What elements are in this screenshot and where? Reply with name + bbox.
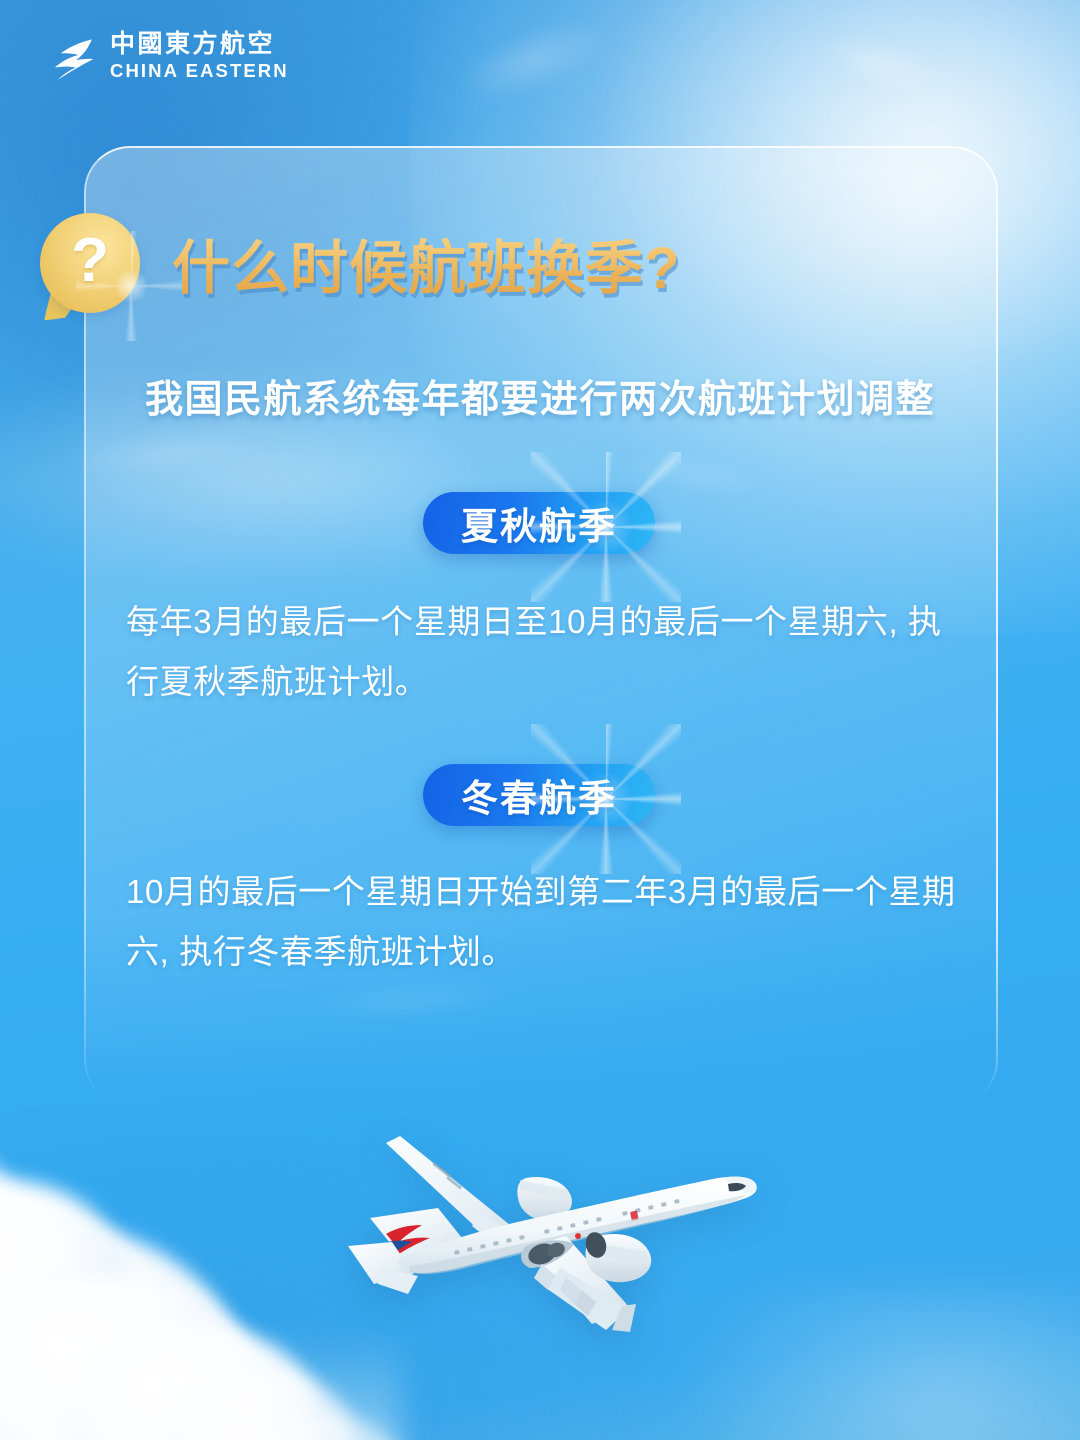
brand-logo: 中國東方航空 CHINA EASTERN (44, 30, 289, 82)
bubble-question-mark: ? (40, 213, 140, 313)
brand-name-cn: 中國東方航空 (110, 32, 289, 57)
poster-canvas: 中國東方航空 CHINA EASTERN ? 什么时候航班换季? 我国民航系统每… (0, 0, 1080, 1440)
page-title: 什么时候航班换季? (172, 221, 680, 305)
brand-logo-text: 中國東方航空 CHINA EASTERN (110, 32, 289, 81)
paragraph-winter-spring-season: 10月的最后一个星期日开始到第二年3月的最后一个星期六, 执行冬春季航班计划。 (126, 862, 970, 982)
headline-row: ? 什么时候航班换季? (40, 205, 1000, 325)
badge-summer-autumn-season: 夏秋航季 (423, 492, 655, 554)
question-mark-speech-bubble-icon: ? (40, 213, 146, 319)
badge-winter-spring-season: 冬春航季 (423, 764, 655, 826)
china-eastern-swallow-logo-icon (44, 30, 96, 82)
brand-name-en: CHINA EASTERN (110, 62, 289, 81)
subtitle: 我国民航系统每年都要进行两次航班计划调整 (0, 368, 1080, 423)
badge-label: 冬春航季 (461, 768, 617, 822)
airplane-in-flight-icon (330, 1118, 790, 1358)
paragraph-summer-autumn-season: 每年3月的最后一个星期日至10月的最后一个星期六, 执行夏秋季航班计划。 (126, 592, 970, 712)
badge-label: 夏秋航季 (461, 496, 617, 550)
